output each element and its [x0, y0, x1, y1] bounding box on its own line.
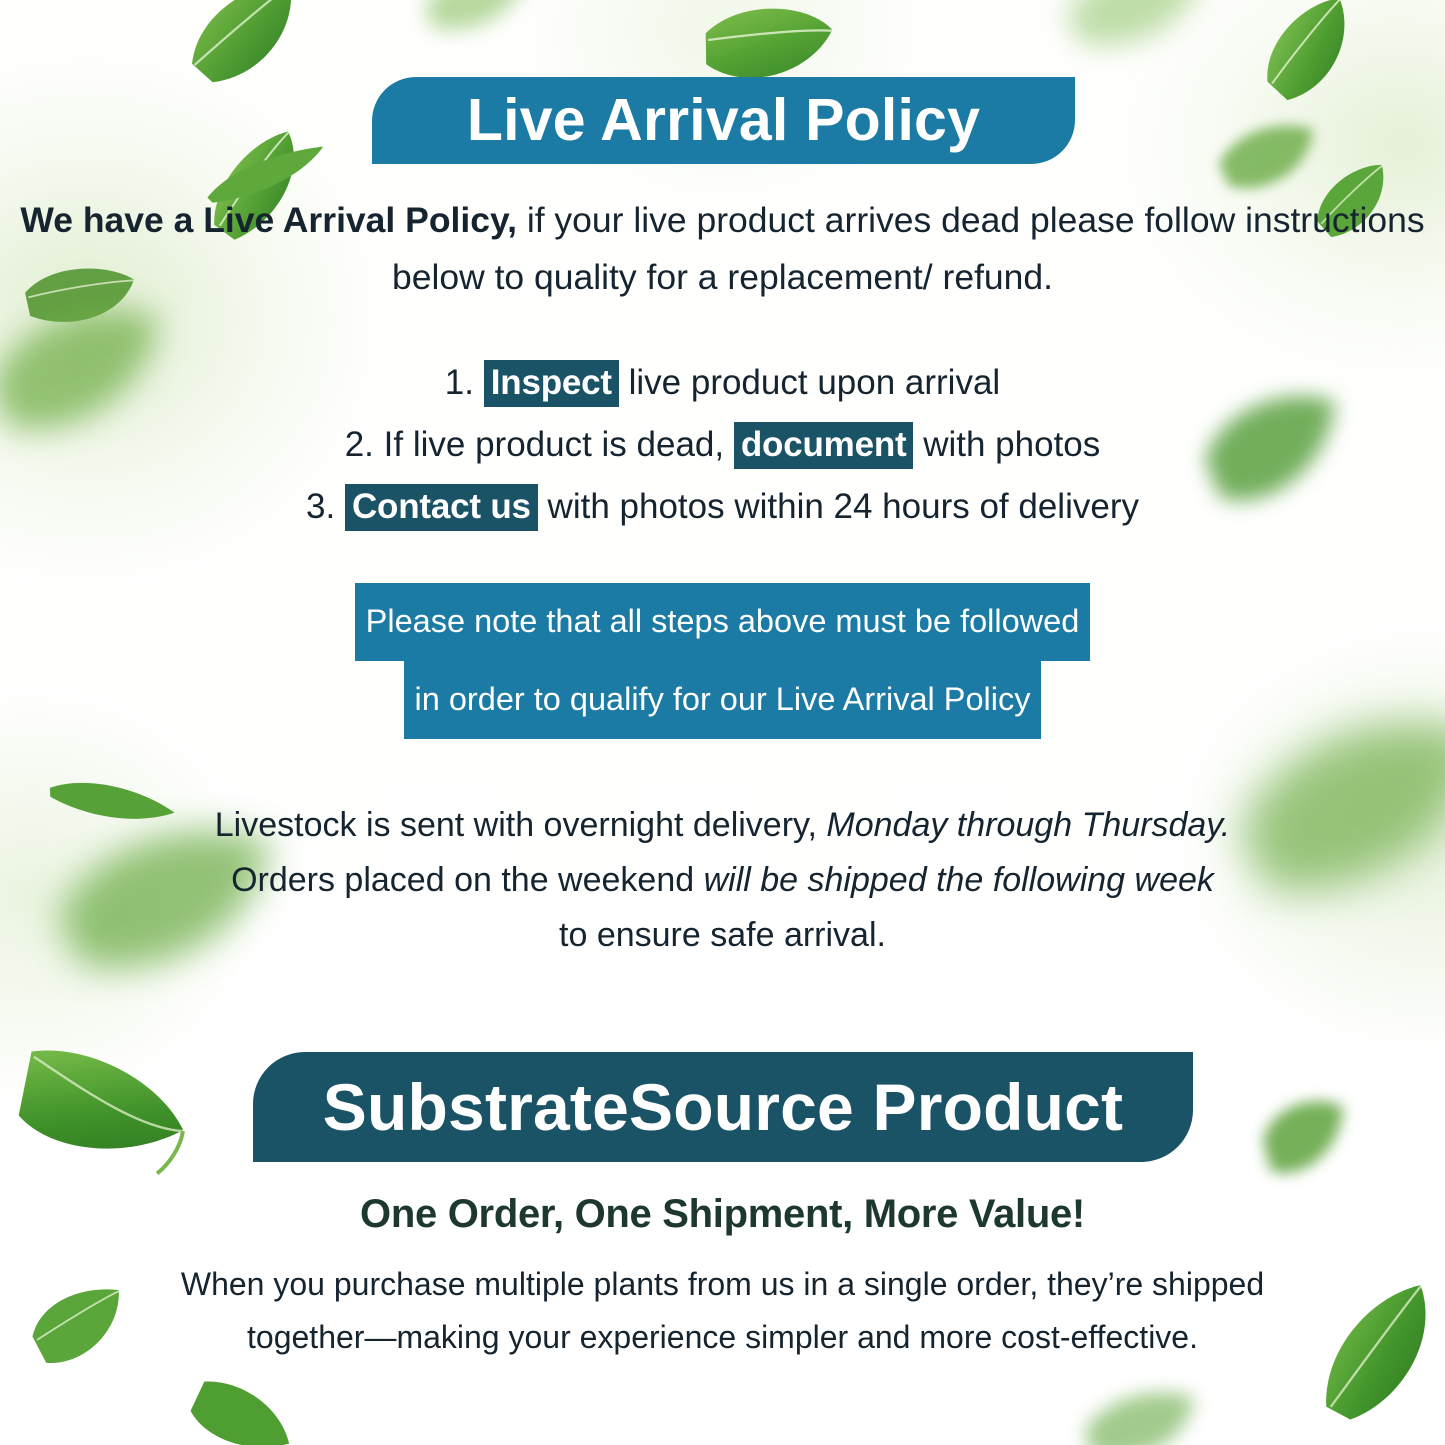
step-number: 3.: [306, 487, 335, 526]
substrate-source-product-banner: SubstrateSource Product: [253, 1052, 1193, 1162]
livestock-shipping-paragraph: Livestock is sent with overnight deliver…: [0, 798, 1445, 963]
list-item: 1. Inspect live product upon arrival: [0, 352, 1445, 414]
livestock-line3-plain: to ensure safe arrival.: [559, 916, 886, 954]
policy-infographic: Live Arrival Policy We have a Live Arriv…: [0, 0, 1445, 1445]
value-proposition-heading: One Order, One Shipment, More Value!: [0, 1192, 1445, 1237]
livestock-line2-plain: Orders placed on the weekend: [231, 861, 704, 899]
step-highlight-document: document: [734, 422, 914, 469]
policy-steps-list: 1. Inspect live product upon arrival 2. …: [0, 352, 1445, 538]
closing-paragraph: When you purchase multiple plants from u…: [0, 1258, 1445, 1364]
closing-line-1: When you purchase multiple plants from u…: [181, 1266, 1264, 1302]
step-text: with photos: [923, 425, 1100, 464]
list-item: 3. Contact us with photos within 24 hour…: [0, 476, 1445, 538]
step-number: 2.: [345, 425, 374, 464]
intro-rest-text: if your live product arrives dead please…: [392, 200, 1425, 297]
step-text: with photos within 24 hours of delivery: [548, 487, 1139, 526]
step-number: 1.: [445, 363, 474, 402]
livestock-line1-italic: Monday through Thursday.: [826, 806, 1230, 844]
live-arrival-policy-banner: Live Arrival Policy: [372, 77, 1075, 164]
policy-note-block: Please note that all steps above must be…: [0, 583, 1445, 739]
note-line-1: Please note that all steps above must be…: [355, 583, 1091, 661]
step-highlight-inspect: Inspect: [484, 360, 619, 407]
step-text: live product upon arrival: [629, 363, 1001, 402]
step-highlight-contact-us: Contact us: [345, 484, 538, 531]
note-line-2: in order to qualify for our Live Arrival…: [404, 661, 1042, 739]
intro-bold-text: We have a Live Arrival Policy,: [20, 200, 517, 240]
closing-line-2: together—making your experience simpler …: [247, 1319, 1198, 1355]
livestock-line1-plain: Livestock is sent with overnight deliver…: [215, 806, 827, 844]
policy-content: Live Arrival Policy We have a Live Arriv…: [0, 0, 1445, 1445]
list-item: 2. If live product is dead, document wit…: [0, 414, 1445, 476]
livestock-line2-italic: will be shipped the following week: [704, 861, 1214, 899]
step-text-before: If live product is dead,: [384, 425, 724, 464]
intro-paragraph: We have a Live Arrival Policy, if your l…: [0, 192, 1445, 306]
